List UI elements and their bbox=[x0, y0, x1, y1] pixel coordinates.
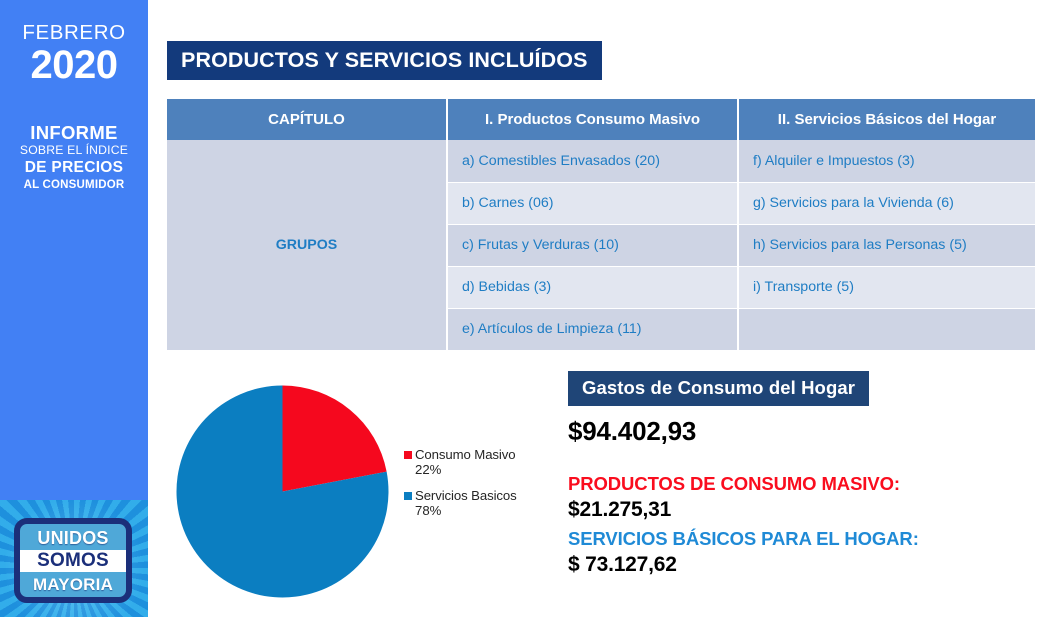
cell-productos-e: e) Artículos de Limpieza (11) bbox=[447, 308, 738, 350]
logo-line-somos: SOMOS bbox=[20, 551, 126, 570]
table-header-row: CAPÍTULO I. Productos Consumo Masivo II.… bbox=[167, 99, 1035, 140]
cell-servicios-g: g) Servicios para la Vivienda (6) bbox=[738, 182, 1035, 224]
organization-logo: UNIDOS SOMOS MAYORIA bbox=[0, 500, 148, 617]
report-subtitle-block: INFORME SOBRE EL ÍNDICE DE PRECIOS AL CO… bbox=[0, 122, 148, 193]
report-line-3: DE PRECIOS bbox=[0, 159, 148, 178]
cell-productos-b: b) Carnes (06) bbox=[447, 182, 738, 224]
logo-card: UNIDOS SOMOS MAYORIA bbox=[14, 518, 132, 603]
table-row: GRUPOS a) Comestibles Envasados (20) f) … bbox=[167, 140, 1035, 182]
products-services-table: CAPÍTULO I. Productos Consumo Masivo II.… bbox=[167, 99, 1035, 351]
date-block: FEBRERO 2020 bbox=[0, 22, 148, 85]
servicios-basicos-label: SERVICIOS BÁSICOS PARA EL HOGAR: bbox=[568, 528, 998, 550]
expenditure-pie-chart: Consumo Masivo 22% Servicios Basicos 78% bbox=[176, 385, 536, 600]
column-header-servicios: II. Servicios Básicos del Hogar bbox=[738, 99, 1035, 140]
consumo-masivo-label: PRODUCTOS DE CONSUMO MASIVO: bbox=[568, 473, 998, 495]
slide-canvas: FEBRERO 2020 INFORME SOBRE EL ÍNDICE DE … bbox=[0, 0, 1060, 617]
report-line-2: SOBRE EL ÍNDICE bbox=[0, 143, 148, 159]
cell-servicios-i: i) Transporte (5) bbox=[738, 266, 1035, 308]
page-title: PRODUCTOS Y SERVICIOS INCLUÍDOS bbox=[181, 48, 588, 73]
cell-productos-d: d) Bebidas (3) bbox=[447, 266, 738, 308]
cell-servicios-empty bbox=[738, 308, 1035, 350]
legend-value-servicios-basicos: 78% bbox=[415, 503, 539, 518]
logo-band: SOMOS bbox=[20, 550, 126, 572]
servicios-basicos-value: $ 73.127,62 bbox=[568, 553, 998, 577]
consumo-masivo-value: $21.275,31 bbox=[568, 498, 998, 522]
cell-productos-a: a) Comestibles Envasados (20) bbox=[447, 140, 738, 182]
cell-servicios-f: f) Alquiler e Impuestos (3) bbox=[738, 140, 1035, 182]
report-line-1: INFORME bbox=[0, 122, 148, 143]
logo-line-unidos: UNIDOS bbox=[20, 529, 126, 547]
column-header-productos: I. Productos Consumo Masivo bbox=[447, 99, 738, 140]
household-expenditure-figures: Gastos de Consumo del Hogar $94.402,93 P… bbox=[568, 371, 998, 577]
table-body: GRUPOS a) Comestibles Envasados (20) f) … bbox=[167, 140, 1035, 350]
report-line-4: AL CONSUMIDOR bbox=[0, 178, 148, 193]
legend-label-consumo-masivo: Consumo Masivo bbox=[415, 448, 515, 462]
legend-label-servicios-basicos: Servicios Basicos bbox=[415, 489, 517, 503]
legend-swatch-blue bbox=[404, 492, 412, 500]
month-label: FEBRERO bbox=[0, 22, 148, 44]
legend-item-consumo-masivo: Consumo Masivo 22% bbox=[404, 448, 539, 477]
pie-legend: Consumo Masivo 22% Servicios Basicos 78% bbox=[404, 448, 539, 530]
legend-value-consumo-masivo: 22% bbox=[415, 462, 539, 477]
row-label-grupos: GRUPOS bbox=[167, 140, 447, 350]
left-sidebar: FEBRERO 2020 INFORME SOBRE EL ÍNDICE DE … bbox=[0, 0, 148, 617]
page-title-banner: PRODUCTOS Y SERVICIOS INCLUÍDOS bbox=[167, 41, 602, 80]
logo-line-mayoria: MAYORIA bbox=[20, 576, 126, 593]
column-header-capitulo: CAPÍTULO bbox=[167, 99, 447, 140]
figures-banner-label: Gastos de Consumo del Hogar bbox=[568, 371, 869, 406]
total-expenditure-value: $94.402,93 bbox=[568, 416, 998, 447]
cell-servicios-h: h) Servicios para las Personas (5) bbox=[738, 224, 1035, 266]
cell-productos-c: c) Frutas y Verduras (10) bbox=[447, 224, 738, 266]
pie-svg bbox=[176, 385, 389, 598]
legend-swatch-red bbox=[404, 451, 412, 459]
year-label: 2020 bbox=[0, 45, 148, 85]
legend-item-servicios-basicos: Servicios Basicos 78% bbox=[404, 489, 539, 518]
table-head: CAPÍTULO I. Productos Consumo Masivo II.… bbox=[167, 99, 1035, 140]
